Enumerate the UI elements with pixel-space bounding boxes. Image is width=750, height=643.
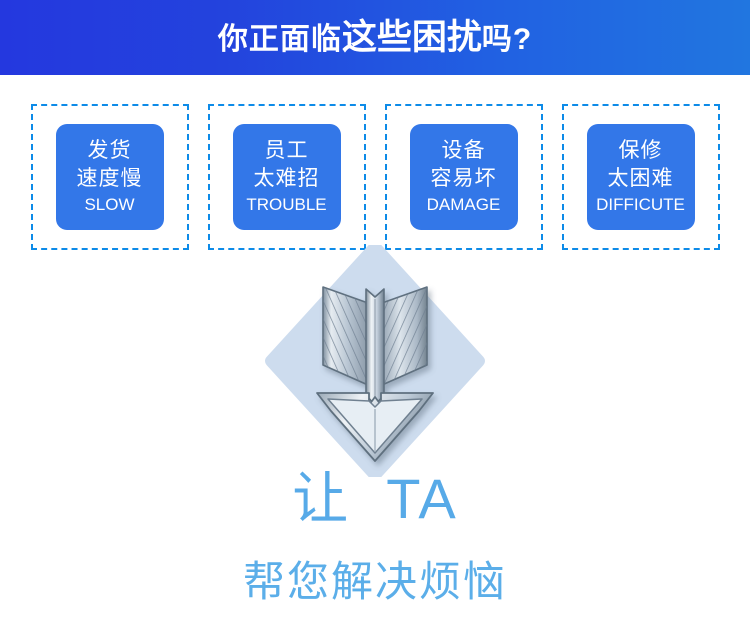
problem-card-line1: 保修 [619, 137, 663, 165]
problem-card-line2: 太困难 [608, 165, 674, 193]
problem-card-trouble[interactable]: 员工 太难招 TROUBLE [208, 104, 366, 250]
page-title-part3: 吗? [482, 25, 532, 55]
cta-headline-left: 让 [292, 467, 350, 530]
problem-cards-row: 发货 速度慢 SLOW 员工 太难招 TROUBLE 设备 容易坏 DAMAGE… [0, 104, 750, 250]
problem-card-line2: 速度慢 [77, 165, 143, 193]
problem-card-box: 员工 太难招 TROUBLE [233, 124, 341, 230]
problem-card-slow[interactable]: 发货 速度慢 SLOW [31, 104, 189, 250]
page-title-part1: 你正面临 [218, 25, 342, 55]
problem-card-line1: 员工 [265, 137, 309, 165]
problem-card-box: 保修 太困难 DIFFICUTE [587, 124, 695, 230]
problem-card-difficult[interactable]: 保修 太困难 DIFFICUTE [562, 104, 720, 250]
problem-card-line3: DIFFICUTE [596, 193, 685, 217]
problem-card-damage[interactable]: 设备 容易坏 DAMAGE [385, 104, 543, 250]
problem-card-line3: TROUBLE [246, 193, 326, 217]
page-title: 你正面临这些困扰吗? [218, 20, 532, 55]
problem-card-line2: 容易坏 [431, 165, 497, 193]
header-banner: 你正面临这些困扰吗? [0, 0, 750, 75]
cta-headline-right: TA [386, 467, 457, 530]
problem-card-line1: 设备 [442, 137, 486, 165]
problem-card-line3: SLOW [84, 193, 134, 217]
problem-card-line1: 发货 [88, 137, 132, 165]
down-arrow-dart-icon [265, 245, 485, 477]
problem-card-line3: DAMAGE [427, 193, 501, 217]
problem-card-box: 发货 速度慢 SLOW [56, 124, 164, 230]
cta-subheadline: 帮您解决烦恼 [0, 556, 750, 608]
page-title-part2: 这些困扰 [342, 20, 482, 55]
problem-card-line2: 太难招 [254, 165, 320, 193]
cta-headline: 让TA [0, 466, 750, 532]
problem-card-box: 设备 容易坏 DAMAGE [410, 124, 518, 230]
